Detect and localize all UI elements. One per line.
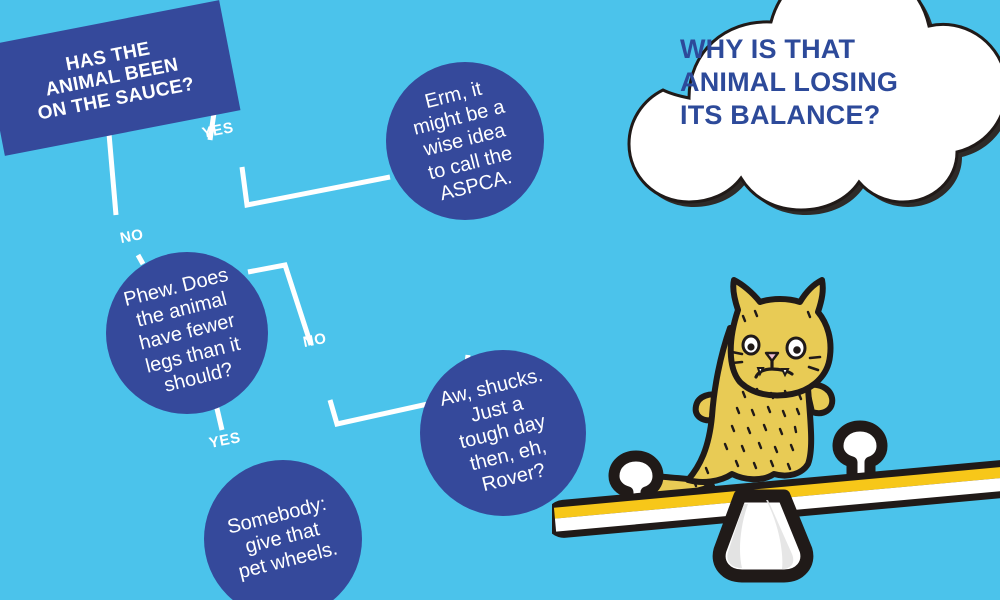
seesaw-scene: [552, 268, 1000, 600]
node-circle-tough-day-label: Aw, shucks. Just a tough day then, eh, R…: [438, 364, 568, 502]
seesaw-fulcrum: [719, 496, 807, 576]
cat-figure: [634, 280, 833, 495]
node-circle-pet-wheels[interactable]: Somebody: give that pet wheels.: [204, 460, 362, 600]
branch-label-no-tough-day: NO: [302, 330, 329, 351]
branch-label-yes-aspca: YES: [201, 119, 235, 142]
connector-no-stub: [108, 122, 116, 215]
node-circle-fewer-legs-label: Phew. Does the animal have fewer legs th…: [121, 264, 253, 402]
connector-no-to-fewer-legs-short: [138, 255, 143, 264]
connector-yes-to-aspca: [242, 167, 390, 205]
page-title: WHY IS THAT ANIMAL LOSING ITS BALANCE?: [680, 33, 960, 132]
cat-on-seesaw-illustration: [552, 268, 1000, 600]
branch-label-no-fewer-legs: NO: [119, 226, 146, 247]
node-circle-aspca[interactable]: Erm, it might be a wise idea to call the…: [386, 62, 544, 220]
decision-box-label: HAS THE ANIMAL BEEN ON THE SAUCE?: [18, 30, 206, 127]
infographic-canvas: WHY IS THAT ANIMAL LOSING ITS BALANCE? H…: [0, 0, 1000, 600]
thought-cloud: WHY IS THAT ANIMAL LOSING ITS BALANCE?: [585, 0, 1000, 268]
branch-label-yes-pet-wheels: YES: [208, 429, 242, 452]
node-circle-aspca-label: Erm, it might be a wise idea to call the…: [406, 73, 525, 208]
node-circle-pet-wheels-label: Somebody: give that pet wheels.: [225, 493, 340, 585]
node-circle-fewer-legs[interactable]: Phew. Does the animal have fewer legs th…: [106, 252, 268, 414]
